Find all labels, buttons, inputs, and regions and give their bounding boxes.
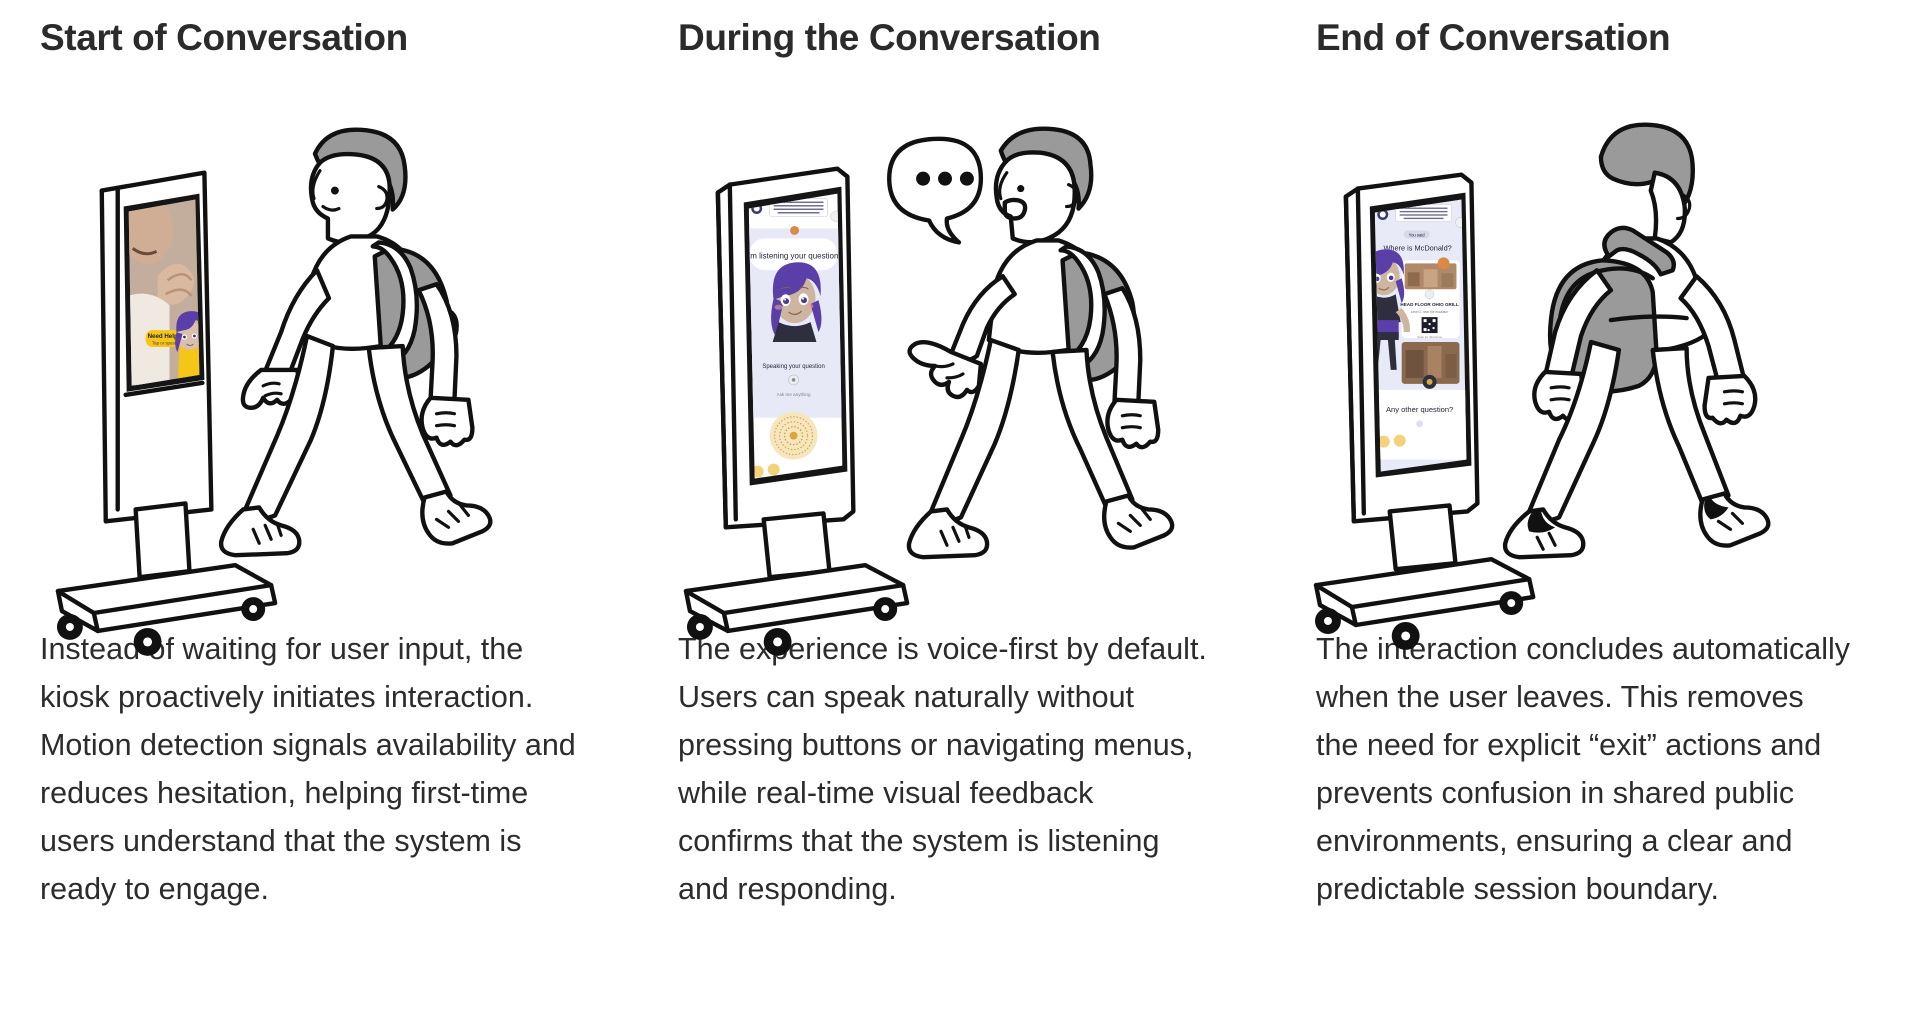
panel-title: During the Conversation xyxy=(678,18,1216,59)
walking-person-leaving xyxy=(1505,124,1768,557)
kiosk-unit: You said Where is McDonald? HEAD FLOOR O… xyxy=(1315,174,1533,649)
kiosk-result-title: HEAD FLOOR OHIO GRILL xyxy=(1400,302,1458,307)
kiosk-caption: Speaking your question xyxy=(762,364,824,370)
speech-bubble-ellipsis xyxy=(889,138,981,242)
voice-visualizer xyxy=(770,411,818,459)
kiosk-screen-listening[interactable]: I'm listening your question. xyxy=(743,185,848,484)
panel-body-text: The experience is voice-first by default… xyxy=(678,625,1216,913)
screen-icon-help[interactable] xyxy=(768,463,780,475)
illustration-kiosk-listening-state: I'm listening your question. xyxy=(678,81,1216,611)
panel-title: Start of Conversation xyxy=(40,18,578,59)
kiosk-headline: I'm listening your question. xyxy=(747,251,841,260)
kiosk-result-sub: Level 2, near the escalator xyxy=(1411,310,1448,314)
kiosk-screen-advertisement[interactable]: Need Help? Tap or speak xyxy=(118,195,210,394)
kiosk-sub-caption: Ask me anything xyxy=(777,392,811,397)
qr-code[interactable] xyxy=(1422,317,1438,333)
help-bubble-sub: Tap or speak xyxy=(152,340,178,345)
walking-person-approaching xyxy=(221,129,490,555)
illustration-kiosk-idle-attract-mode: Need Help? Tap or speak xyxy=(40,81,578,611)
panel-body-text: The interaction concludes automatically … xyxy=(1316,625,1854,913)
screen-icon-help[interactable] xyxy=(1394,434,1406,446)
kiosk-chip-label: You said xyxy=(1409,232,1426,237)
panel-start-of-conversation: Start of Conversation xyxy=(0,0,638,1016)
kiosk-unit: Need Help? Tap or speak xyxy=(57,172,275,655)
kiosk-footer-prompt: Any other question? xyxy=(1386,404,1453,413)
panel-end-of-conversation: End of Conversation xyxy=(1276,0,1914,1016)
kiosk-qr-label: Scan for directions xyxy=(1417,335,1442,339)
panel-body-text: Instead of waiting for user input, the k… xyxy=(40,625,578,913)
three-panel-storyboard: Start of Conversation xyxy=(0,0,1914,1016)
illustration-kiosk-session-ended: You said Where is McDonald? HEAD FLOOR O… xyxy=(1316,81,1854,611)
panel-during-the-conversation: During the Conversation xyxy=(638,0,1276,1016)
panel-title: End of Conversation xyxy=(1316,18,1854,59)
kiosk-unit: I'm listening your question. xyxy=(686,168,907,655)
